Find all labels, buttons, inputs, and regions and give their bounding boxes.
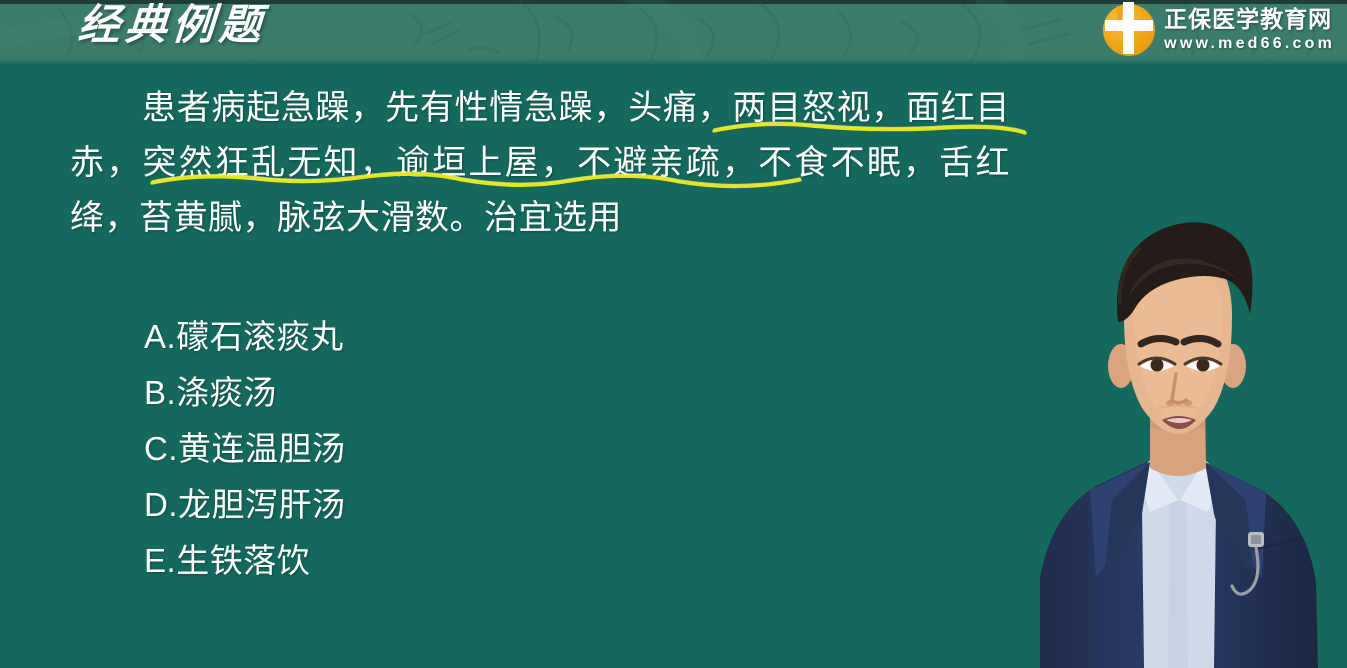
page-title: 经典例题 — [76, 2, 267, 50]
brand-url: www.med66.com — [1164, 36, 1335, 52]
presenter-video-overlay — [1000, 108, 1347, 668]
logo-notch — [1117, 6, 1122, 20]
option-a-key: A. — [144, 318, 176, 355]
option-b-key: B. — [144, 374, 176, 411]
slide-header-band: 经典例题 正保医学教育网 www.med66.com — [0, 0, 1347, 64]
logo-cross-vertical — [1123, 2, 1134, 54]
brand-name: 正保医学教育网 — [1164, 8, 1335, 31]
option-d-label: 龙胆泻肝汤 — [178, 486, 346, 523]
option-c-key: C. — [144, 430, 178, 467]
option-d-key: D. — [144, 486, 178, 523]
cross-circle-logo-icon — [1103, 4, 1155, 56]
option-c-label: 黄连温胆汤 — [178, 430, 346, 467]
brand-text: 正保医学教育网 www.med66.com — [1164, 8, 1335, 52]
question-block: 患者病起急躁，先有性情急躁，头痛，两目怒视，面红目赤，突然狂乱无知，逾垣上屋，不… — [70, 81, 1010, 246]
option-e-key: E. — [144, 542, 176, 579]
presenter-head — [1108, 222, 1252, 434]
presenter-figure — [1000, 108, 1347, 668]
option-a[interactable]: A.礞石滚痰丸 — [144, 309, 844, 365]
option-b-label: 涤痰汤 — [176, 374, 277, 411]
lecture-slide: 经典例题 正保医学教育网 www.med66.com 患者病起急躁，先有性情急躁… — [0, 0, 1347, 668]
option-b[interactable]: B.涤痰汤 — [144, 365, 844, 421]
question-stem: 患者病起急躁，先有性情急躁，头痛，两目怒视，面红目赤，突然狂乱无知，逾垣上屋，不… — [70, 81, 1010, 246]
option-e[interactable]: E.生铁落饮 — [144, 533, 844, 589]
options-list: A.礞石滚痰丸 B.涤痰汤 C.黄连温胆汤 D.龙胆泻肝汤 E.生铁落饮 — [144, 309, 844, 589]
option-c[interactable]: C.黄连温胆汤 — [144, 421, 844, 477]
brand-logo: 正保医学教育网 www.med66.com — [1103, 4, 1335, 56]
presenter-suit — [1040, 460, 1318, 668]
option-d[interactable]: D.龙胆泻肝汤 — [144, 477, 844, 533]
option-e-label: 生铁落饮 — [176, 542, 310, 579]
option-a-label: 礞石滚痰丸 — [176, 318, 344, 355]
